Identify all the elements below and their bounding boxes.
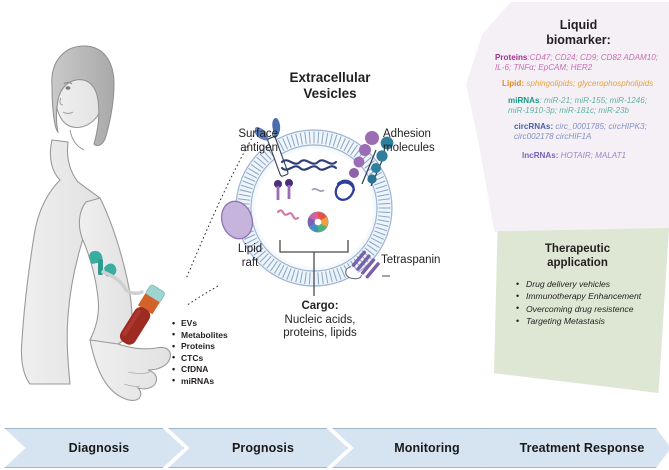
flow-step-diagnosis-label: Diagnosis [59,441,130,455]
biomarker-row-mirnas: miRNAs: miR-21; miR-155; miR-1246; miR-1… [466,96,669,116]
biomarker-row-lncrnas: lncRNAs: HOTAIR; MALAT1 [466,151,669,161]
circrnas-label: circRNAs: [514,122,553,131]
adhesion-line2: molecules [383,142,455,156]
list-item: Overcoming drug resistence [516,304,663,315]
flow-step-treatment-response-label: Treatment Response [510,441,645,455]
biomarker-row-proteins: Proteins:CD47; CD24; CD9; CD82 ADAM10; I… [466,53,669,73]
liquid-biomarker-panel: Liquid biomarker: Proteins:CD47; CD24; C… [466,2,669,232]
list-item: Immunotherapy Enhancement [516,291,663,302]
list-item: miRNAs [172,376,270,388]
therapeutic-application-panel: Therapeutic application Drug delivery ve… [494,228,669,393]
lipid-label: Lipid: [502,79,524,88]
patient-illustration [8,40,183,410]
list-item: CfDNA [172,364,270,376]
flow-step-prognosis-label: Prognosis [222,441,294,455]
flow-step-treatment-response[interactable]: Treatment Response [483,428,669,468]
surface-antigen-line2: antigen [216,142,278,156]
label-tetraspanin: Tetraspanin [381,254,463,268]
therapy-title: Therapeutic application [494,242,669,270]
lipid-raft-line1: Lipid [228,243,272,257]
clinical-workflow-flow: Diagnosis Prognosis Monitoring Treatment… [0,425,669,470]
biomarker-row-circrnas: circRNAs: circ_0001785; circHIPK3; circ0… [466,122,669,142]
biomarker-row-lipid: Lipid: sphingolipids; glycerophospholipi… [466,79,669,89]
biomarker-title-line1: Liquid [488,18,669,33]
label-lipid-raft: Lipid raft [228,243,272,270]
therapy-list: Drug delivery vehicles Immunotherapy Enh… [494,279,669,328]
flow-step-diagnosis[interactable]: Diagnosis [4,428,184,468]
surface-antigen-line1: Surface [216,128,278,142]
cargo-heading: Cargo: [268,300,372,314]
adhesion-line1: Adhesion [383,128,455,142]
label-surface-antigen: Surface antigen [216,128,278,155]
lipid-raft-line2: raft [228,257,272,271]
ev-diagram-title: Extracellular Vesicles [255,70,405,102]
lncrnas-label: lncRNAs: [522,151,558,160]
biomarker-title-line2: biomarker: [488,33,669,48]
lncrnas-value: HOTAIR; MALAT1 [558,151,626,160]
list-item: CTCs [172,353,270,365]
list-item: Targeting Metastasis [516,316,663,327]
mirnas-label: miRNAs [508,96,539,105]
flow-step-monitoring[interactable]: Monitoring [332,428,512,468]
therapy-title-line1: Therapeutic [494,242,661,256]
list-item: Drug delivery vehicles [516,279,663,290]
cargo-line1: Nucleic acids, [268,314,372,328]
flow-step-monitoring-label: Monitoring [384,441,460,455]
lipid-value: sphingolipids; glycerophospholipids [524,79,653,88]
therapy-title-line2: application [494,256,661,270]
cargo-line2: proteins, lipids [268,327,372,341]
label-adhesion-molecules: Adhesion molecules [383,128,455,155]
flow-step-prognosis[interactable]: Prognosis [168,428,348,468]
biomarker-title: Liquid biomarker: [466,18,669,47]
ev-title-line1: Extracellular [255,70,405,86]
label-cargo: Cargo: Nucleic acids, proteins, lipids [268,300,372,341]
proteins-label: Proteins [495,53,527,62]
